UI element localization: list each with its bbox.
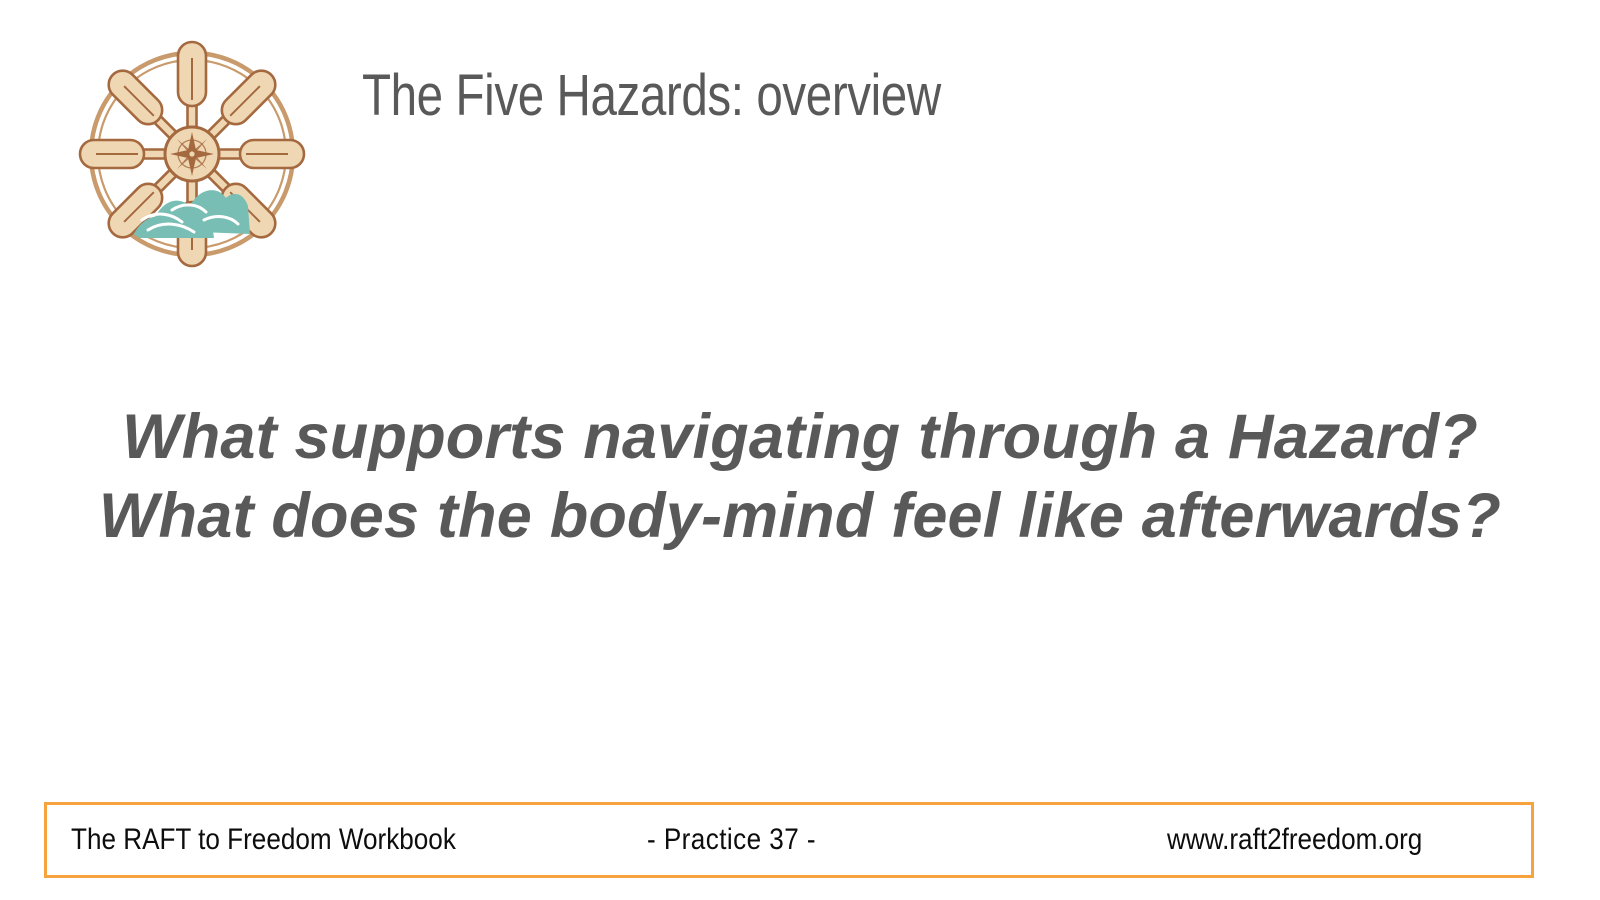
slide-canvas: The Five Hazards: overview What supports… xyxy=(0,0,1600,900)
footer-workbook-title: The RAFT to Freedom Workbook xyxy=(71,823,456,857)
footer-practice-label: - Practice 37 - xyxy=(647,823,816,857)
page-title: The Five Hazards: overview xyxy=(362,64,1264,128)
prompt-text: What supports navigating through a Hazar… xyxy=(70,398,1530,557)
prompt-block: What supports navigating through a Hazar… xyxy=(70,398,1530,557)
footer-bar: The RAFT to Freedom Workbook - Practice … xyxy=(44,802,1534,878)
raft-ships-wheel-logo xyxy=(72,34,312,274)
footer-website-url[interactable]: www.raft2freedom.org xyxy=(1167,823,1422,857)
